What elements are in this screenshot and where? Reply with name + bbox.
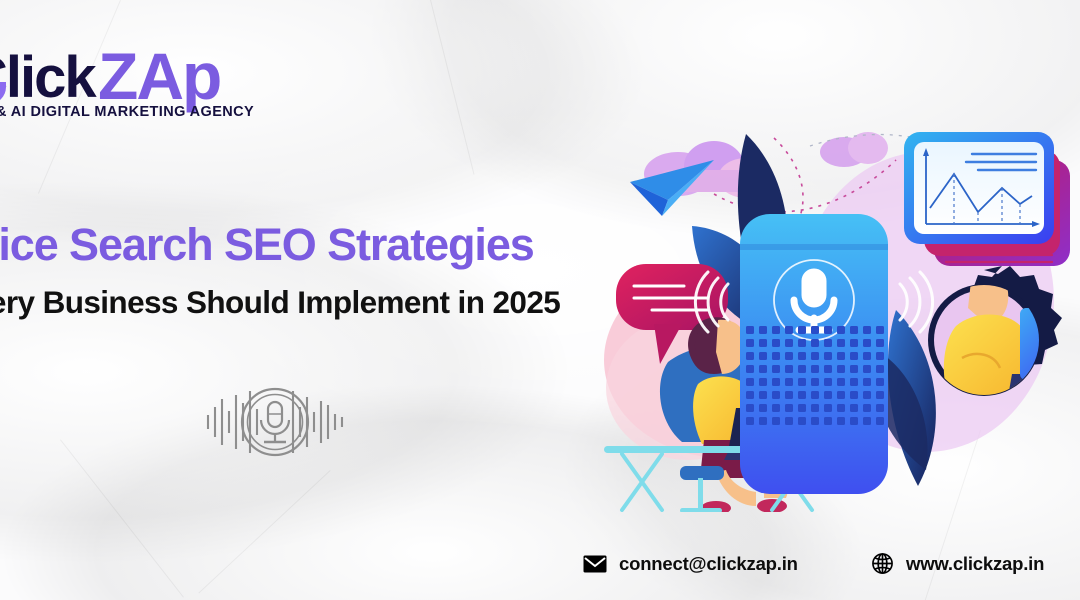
- website-text: www.clickzap.in: [906, 553, 1044, 575]
- logo-tagline: & AI DIGITAL MARKETING AGENCY: [0, 104, 254, 120]
- email-text: connect@clickzap.in: [619, 553, 798, 575]
- page-title: oice Search SEO Strategies very Business…: [0, 222, 652, 319]
- contact-email[interactable]: connect@clickzap.in: [583, 553, 798, 575]
- microphone-waveform-badge: [200, 378, 350, 466]
- brand-logo[interactable]: Click ZAp & AI DIGITAL MARKETING AGENCY: [0, 30, 256, 122]
- logo-text-click: Click: [0, 44, 95, 111]
- illustration-svg: [596, 112, 1080, 512]
- voice-search-illustration: [596, 112, 1080, 512]
- banner-root: Click ZAp & AI DIGITAL MARKETING AGENCY …: [0, 0, 1080, 600]
- microphone-icon: [200, 378, 350, 466]
- globe-icon: [871, 552, 894, 575]
- contact-website[interactable]: www.clickzap.in: [871, 552, 1044, 575]
- headline-line-2: very Business Should Implement in 2025: [0, 286, 652, 319]
- logo-text-zap: ZAp: [98, 38, 220, 114]
- envelope-icon: [583, 555, 607, 573]
- headline-line-1: oice Search SEO Strategies: [0, 222, 652, 268]
- analytics-dashboard-card: [904, 132, 1070, 266]
- contact-footer: connect@clickzap.in www.clickzap.in: [575, 548, 1080, 588]
- cloud-icon-small: [820, 132, 888, 167]
